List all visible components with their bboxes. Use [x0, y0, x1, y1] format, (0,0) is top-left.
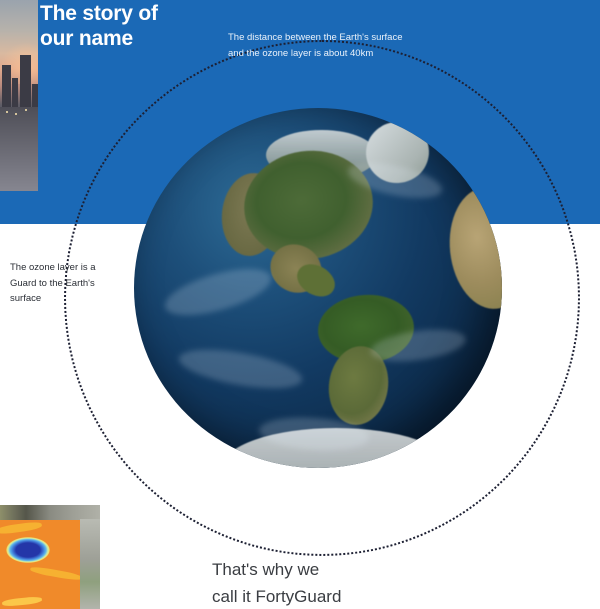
- street-light-icon: [25, 109, 27, 111]
- building-shape: [2, 65, 11, 107]
- street-light-icon: [6, 111, 8, 113]
- heat-overlay: [0, 520, 82, 609]
- heat-band: [2, 596, 43, 607]
- heat-band: [0, 521, 42, 535]
- building-shape: [20, 55, 31, 107]
- ozone-annotation: The ozone layer is a Guard to the Earth'…: [10, 260, 120, 307]
- earth-globe: [134, 108, 502, 468]
- tagline-text: That's why we call it FortyGuard: [212, 556, 492, 609]
- building-shape: [32, 84, 38, 107]
- globe-sphere: [134, 108, 502, 468]
- building-shape: [12, 78, 18, 107]
- map-city-area: [80, 519, 100, 609]
- urban-heat-map-photo: [0, 505, 100, 609]
- slide-canvas: The story of our name The distance betwe…: [0, 0, 600, 609]
- street-light-icon: [15, 113, 17, 115]
- road-shape: [0, 107, 38, 191]
- heat-band: [30, 566, 82, 582]
- landmass-africa: [444, 183, 502, 313]
- cloud-shape: [176, 342, 305, 396]
- page-title: The story of our name: [40, 1, 158, 51]
- cloud-shape: [161, 259, 277, 324]
- distance-annotation: The distance between the Earth's surface…: [228, 30, 408, 61]
- city-skyline-photo: [0, 0, 38, 191]
